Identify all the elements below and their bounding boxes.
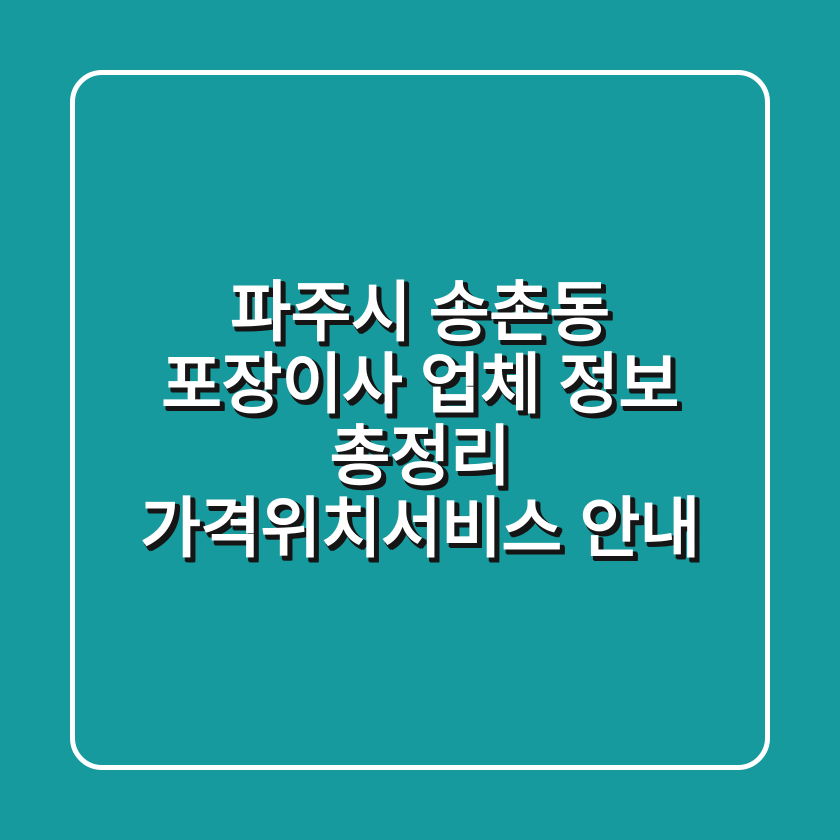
title-card: 파주시 송촌동 포장이사 업체 정보 총정리 가격위치서비스 안내: [70, 70, 770, 770]
title-line-4: 가격위치서비스 안내: [84, 492, 756, 564]
thumbnail-canvas: 파주시 송촌동 포장이사 업체 정보 총정리 가격위치서비스 안내: [0, 0, 840, 840]
title-line-1: 파주시 송촌동: [84, 276, 756, 348]
title-line-2: 포장이사 업체 정보: [84, 348, 756, 420]
title-line-3: 총정리: [84, 420, 756, 492]
